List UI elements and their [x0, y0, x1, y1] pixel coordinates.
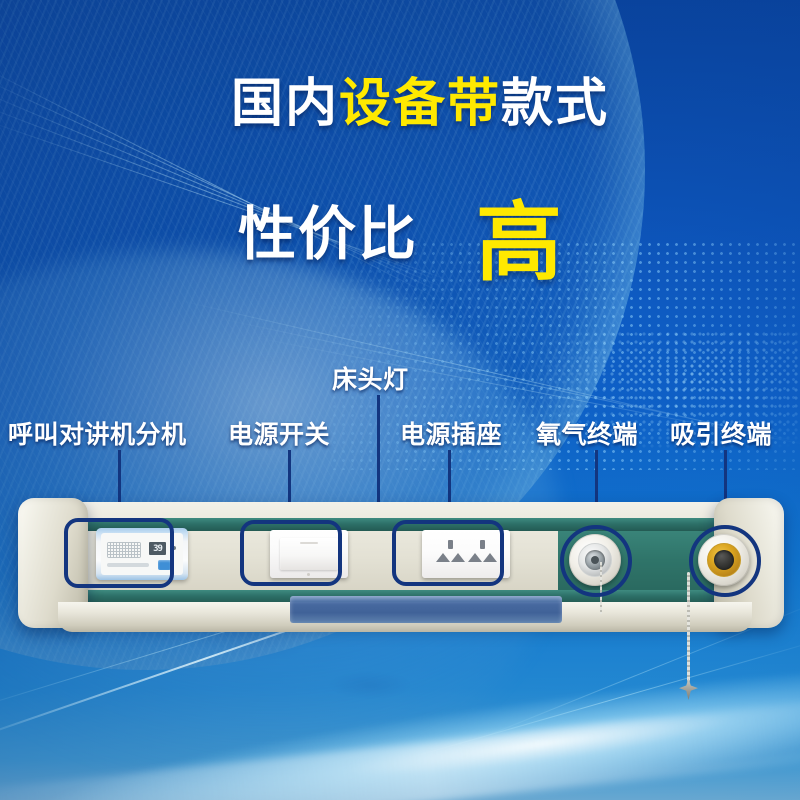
highlight-box-intercom: [64, 518, 174, 588]
promo-banner: 国内设备带款式 性价比高 呼叫对讲机分机 电源开关 床头灯 电源插座 氧气终端 …: [0, 0, 800, 800]
callout-labels: 呼叫对讲机分机 电源开关 床头灯 电源插座 氧气终端 吸引终端: [0, 0, 800, 800]
callout-label-suction: 吸引终端: [670, 415, 772, 451]
callout-label-oxygen: 氧气终端: [536, 415, 638, 451]
highlight-circle-suction: [689, 525, 761, 597]
suction-pull-cord[interactable]: [687, 572, 690, 682]
callout-label-switch: 电源开关: [228, 415, 330, 451]
callout-label-intercom: 呼叫对讲机分机: [8, 415, 187, 451]
callout-label-bed-lamp: 床头灯: [332, 360, 409, 396]
bed-lamp-diffuser[interactable]: [290, 596, 562, 623]
highlight-box-switch: [240, 520, 342, 586]
highlight-circle-oxygen: [560, 525, 632, 597]
highlight-box-outlet: [392, 520, 504, 586]
callout-label-outlet: 电源插座: [400, 415, 502, 451]
